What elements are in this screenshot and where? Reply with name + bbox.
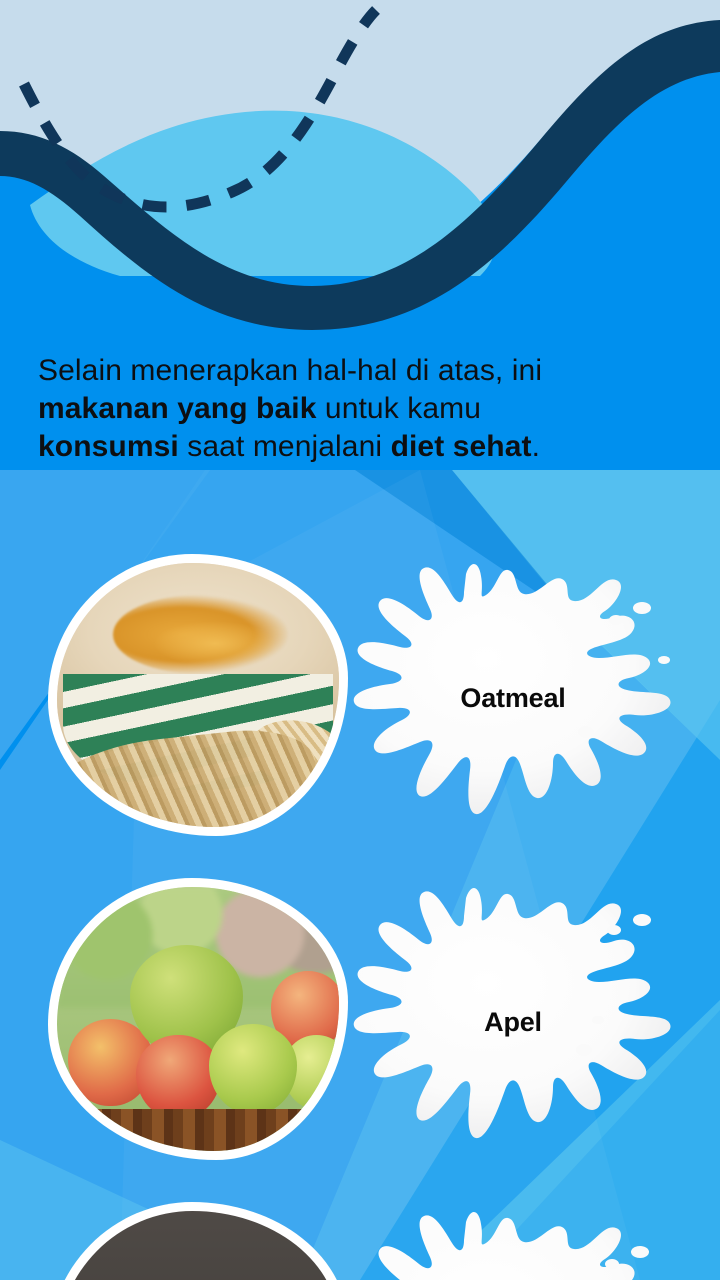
splash-droplet	[609, 615, 623, 625]
headline-line-3: konsumsi saat menjalani diet sehat.	[38, 428, 682, 466]
food-item-row: Oatmeal	[0, 548, 720, 848]
boiled-egg-photo	[48, 1202, 348, 1280]
poster-canvas: Selain menerapkan hal-hal di atas, ini m…	[0, 0, 720, 1280]
headline-run: untuk kamu	[316, 392, 481, 425]
milk-splash: Apel	[348, 872, 678, 1172]
splash-droplet	[633, 602, 651, 614]
splash-droplet	[631, 1246, 649, 1258]
apples-bowl-photo	[48, 878, 348, 1160]
splash-droplet	[592, 1016, 604, 1024]
headline-run: saat menjalani	[179, 430, 391, 463]
headline-block: Selain menerapkan hal-hal di atas, ini m…	[0, 352, 720, 466]
food-item-row	[0, 1196, 720, 1280]
oatmeal-bowl-photo	[48, 554, 348, 836]
splash-droplet	[633, 914, 651, 926]
headline-run-bold: makanan yang baik	[38, 392, 316, 425]
oatmeal-illustration	[57, 563, 339, 827]
photo-clip	[57, 563, 339, 827]
splash-shape	[354, 1212, 671, 1280]
photo-clip	[57, 1211, 339, 1280]
headline-run: Selain menerapkan hal-hal di atas, ini	[38, 354, 542, 387]
headline-line-2: makanan yang baik untuk kamu	[38, 390, 682, 428]
splash-shape	[354, 888, 671, 1138]
headline-run-bold: diet sehat	[391, 430, 532, 463]
apple-illustration	[57, 887, 339, 1151]
splash-droplet	[576, 1044, 592, 1056]
headline-line-1: Selain menerapkan hal-hal di atas, ini	[38, 352, 682, 390]
photo-frame	[48, 878, 348, 1160]
milk-splash: Oatmeal	[348, 548, 678, 848]
headline-run: .	[532, 430, 540, 463]
splash-droplet	[605, 1259, 619, 1269]
photo-frame	[48, 554, 348, 836]
photo-clip	[57, 887, 339, 1151]
splash-droplet	[658, 656, 670, 664]
food-item-row: Apel	[0, 872, 720, 1172]
splash-shape	[354, 564, 671, 814]
egg-illustration	[57, 1211, 339, 1280]
splash-droplet	[578, 726, 594, 738]
photo-frame	[48, 1202, 348, 1280]
milk-splash	[348, 1196, 678, 1280]
headline-run-bold: konsumsi	[38, 430, 179, 463]
splash-droplet	[607, 925, 621, 935]
